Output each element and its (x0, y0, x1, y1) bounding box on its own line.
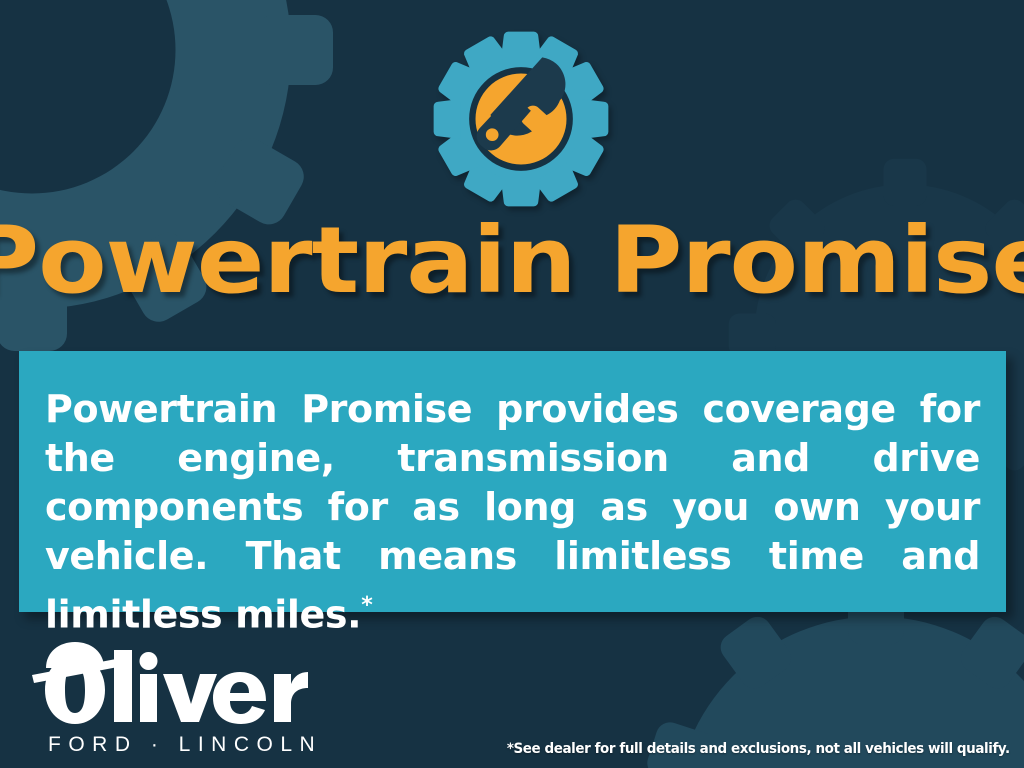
description-body: Powertrain Promise provides coverage for… (45, 387, 980, 637)
description-panel: Powertrain Promise provides coverage for… (19, 351, 1006, 612)
oliver-wordmark-icon (30, 638, 330, 736)
footnote-marker: * (361, 593, 372, 618)
disclaimer-text: *See dealer for full details and exclusi… (507, 741, 1010, 757)
dealer-logo[interactable]: FORD · LINCOLN (30, 638, 330, 762)
description-text: Powertrain Promise provides coverage for… (45, 385, 980, 640)
gear-wrench-icon (430, 28, 612, 210)
background-gear-top-left-icon (0, 0, 382, 400)
dealer-logo-subtitle: FORD · LINCOLN (48, 733, 322, 757)
page-title: Powertrain Promise (0, 215, 1024, 307)
promo-graphic: Powertrain Promise Powertrain Promise pr… (0, 0, 1024, 768)
